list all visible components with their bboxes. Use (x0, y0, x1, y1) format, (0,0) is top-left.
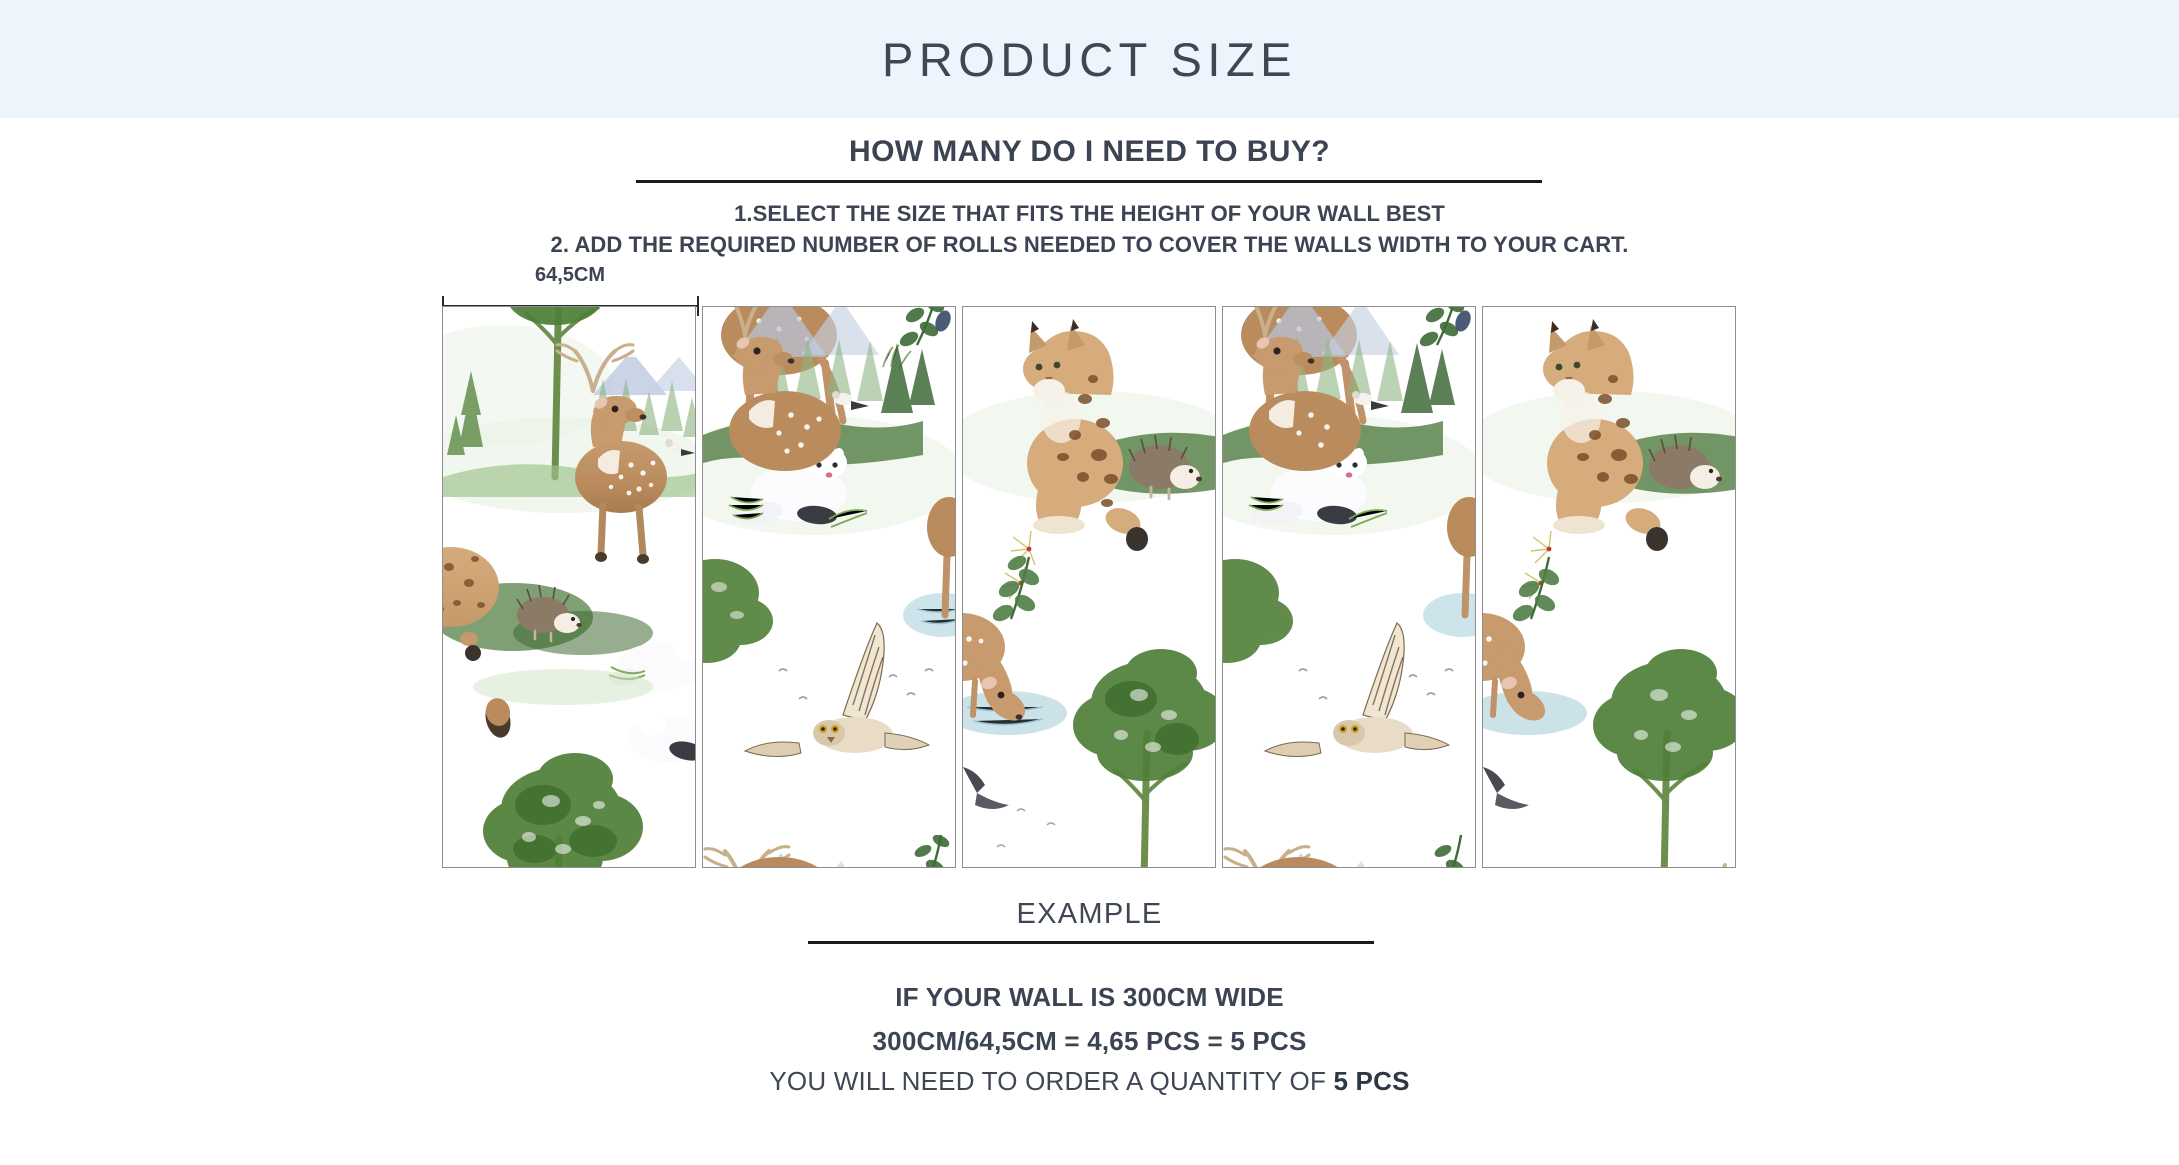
woodland-pattern-svg (443, 306, 696, 868)
pattern-art (1223, 306, 1476, 868)
woodland-pattern-svg (1223, 306, 1476, 868)
heading-divider (636, 180, 1542, 183)
wallpaper-panel-5[interactable] (1482, 306, 1736, 868)
example-title: EXAMPLE (0, 898, 2179, 931)
example-body: IF YOUR WALL IS 300CM WIDE 300CM/64,5CM … (0, 975, 2179, 1063)
dimension-line (442, 296, 699, 297)
woodland-pattern-svg (1483, 306, 1736, 868)
pattern-art (443, 306, 696, 868)
dimension-label: 64,5CM (442, 264, 698, 287)
example-final-line: YOU WILL NEED TO ORDER A QUANTITY OF 5 P… (0, 1066, 2179, 1097)
example-divider (808, 941, 1374, 944)
instruction-line-1: 1.SELECT THE SIZE THAT FITS THE HEIGHT O… (0, 198, 2179, 229)
pattern-art (1483, 306, 1736, 868)
woodland-pattern-svg (963, 306, 1216, 868)
pattern-art (963, 306, 1216, 868)
example-line-2: 300CM/64,5CM = 4,65 PCS = 5 PCS (0, 1019, 2179, 1063)
wallpaper-panel-2[interactable] (702, 306, 956, 868)
example-final-quantity: 5 PCS (1333, 1066, 1409, 1096)
pattern-art (703, 306, 956, 868)
wallpaper-panel-1[interactable] (442, 306, 696, 868)
instructions-block: 1.SELECT THE SIZE THAT FITS THE HEIGHT O… (0, 198, 2179, 260)
section-heading: HOW MANY DO I NEED TO BUY? (0, 135, 2179, 169)
example-line-1: IF YOUR WALL IS 300CM WIDE (0, 975, 2179, 1019)
woodland-pattern-svg (703, 306, 956, 868)
product-size-page: PRODUCT SIZE HOW MANY DO I NEED TO BUY? … (0, 0, 2179, 1165)
page-title: PRODUCT SIZE (882, 32, 1297, 87)
wallpaper-panel-3[interactable] (962, 306, 1216, 868)
wallpaper-panel-4[interactable] (1222, 306, 1476, 868)
header-band: PRODUCT SIZE (0, 0, 2179, 118)
wallpaper-panel-strip (442, 306, 1736, 868)
example-final-prefix: YOU WILL NEED TO ORDER A QUANTITY OF (769, 1066, 1333, 1096)
instruction-line-2: 2. ADD THE REQUIRED NUMBER OF ROLLS NEED… (0, 229, 2179, 260)
